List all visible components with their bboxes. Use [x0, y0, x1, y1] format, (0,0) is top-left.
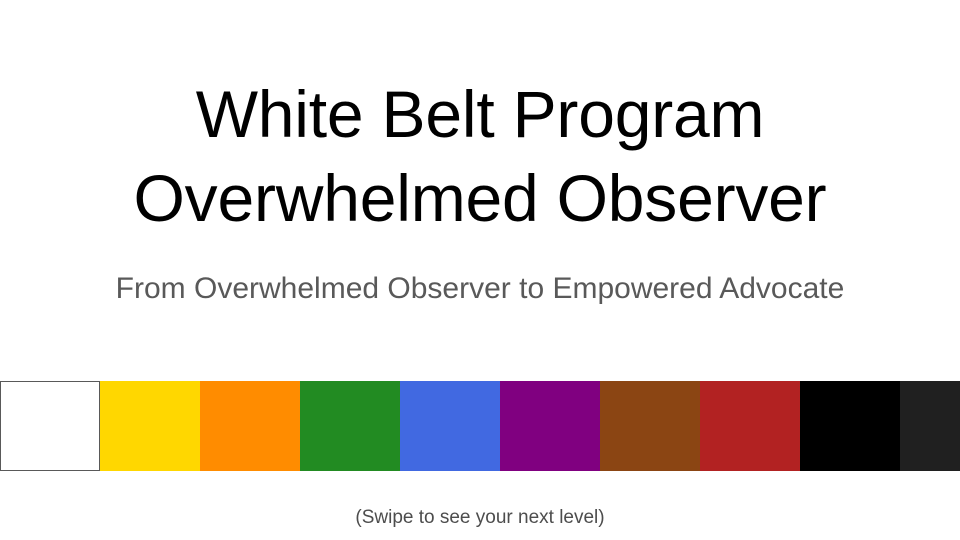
swipe-hint-text: (Swipe to see your next level) — [0, 505, 960, 530]
title-line-1: White Belt Program — [0, 72, 960, 156]
belt-swatch-brown-belt[interactable] — [600, 381, 700, 471]
belt-swatch-blue-belt[interactable] — [400, 381, 500, 471]
belt-swatch-green-belt[interactable] — [300, 381, 400, 471]
subtitle: From Overwhelmed Observer to Empowered A… — [0, 270, 960, 308]
page-title: White Belt Program Overwhelmed Observer — [0, 72, 960, 240]
title-line-2: Overwhelmed Observer — [0, 156, 960, 240]
belt-swatch-yellow-belt[interactable] — [100, 381, 200, 471]
slide-canvas: White Belt Program Overwhelmed Observer … — [0, 0, 960, 540]
belt-swatch-purple-belt[interactable] — [500, 381, 600, 471]
belt-swatch-red-belt[interactable] — [700, 381, 800, 471]
belt-swatch-orange-belt[interactable] — [200, 381, 300, 471]
belt-progression-strip[interactable] — [0, 381, 960, 471]
belt-swatch-black-belt[interactable] — [800, 381, 900, 471]
belt-swatch-white-belt[interactable] — [0, 381, 100, 471]
belt-swatch-dark-grey-belt[interactable] — [900, 381, 960, 471]
